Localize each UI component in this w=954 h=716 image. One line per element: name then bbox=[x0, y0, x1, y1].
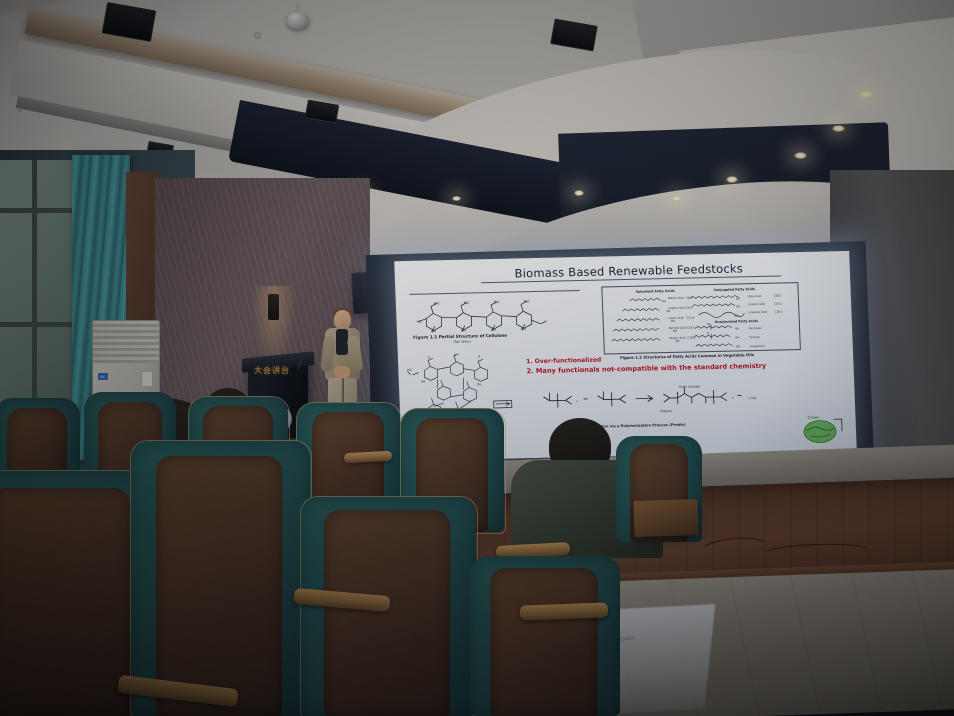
figure1-subcaption: (Ref. Wiley) bbox=[453, 340, 471, 344]
svg-text:OH: OH bbox=[421, 380, 425, 384]
svg-text:OH: OH bbox=[477, 382, 481, 386]
svg-text:Green: Green bbox=[807, 415, 820, 420]
fatty-code: C18:3 bbox=[774, 309, 782, 313]
fatty-code: C6:0 bbox=[686, 305, 692, 309]
security-camera-icon bbox=[287, 12, 309, 29]
fatty-name: Vernolic bbox=[749, 335, 760, 339]
window-mullion bbox=[0, 322, 78, 327]
fatty-name: Ricinoleic bbox=[749, 326, 762, 330]
fatty-code: C18:1 bbox=[774, 293, 782, 297]
svg-text:H₂C: H₂C bbox=[494, 300, 501, 304]
fatty-name: Stearic Acid bbox=[669, 336, 685, 340]
svg-text:O: O bbox=[707, 331, 709, 335]
svg-text:O: O bbox=[478, 354, 481, 358]
svg-text:+: + bbox=[576, 399, 579, 403]
ac-label: AC bbox=[98, 373, 108, 380]
fatty-code: C4:0 bbox=[686, 295, 692, 299]
svg-text:H₂C: H₂C bbox=[434, 301, 441, 305]
wall-sconce-icon bbox=[268, 294, 279, 320]
ceiling-downlight bbox=[858, 90, 874, 99]
green-chemistry-logo-icon: Green bbox=[799, 411, 846, 446]
sprinkler-icon bbox=[18, 108, 22, 112]
fatty-code: C12:0 bbox=[686, 315, 694, 319]
svg-text:Polymer: Polymer bbox=[660, 409, 673, 413]
presenter-hands bbox=[334, 366, 350, 378]
svg-text:HO: HO bbox=[416, 320, 422, 324]
svg-text:OH: OH bbox=[736, 344, 740, 348]
fatty-name: Linoleic Acid bbox=[748, 302, 765, 306]
fatty-name: Lesquerolic bbox=[750, 344, 765, 348]
svg-text:H₂C: H₂C bbox=[464, 301, 471, 305]
fatty-name: Palmitic Acid bbox=[669, 326, 686, 330]
svg-text:OH: OH bbox=[736, 296, 740, 300]
ceiling-downlight bbox=[672, 196, 681, 201]
fatty-name: Caproic Acid bbox=[668, 306, 685, 310]
polymerization-reaction-scheme: + + n H₂O Ester Linkage Polymer bbox=[535, 377, 787, 423]
lecture-hall-photo: AC Biomass Based Renewable Feedstocks bbox=[0, 0, 954, 716]
cellulose-structure-diagram: H₂CH₂C H₂CH₂C HO OHOH OHOH bbox=[414, 295, 575, 333]
ac-vent-grille bbox=[93, 321, 159, 363]
seat-piping bbox=[130, 440, 312, 716]
svg-text:O: O bbox=[428, 355, 431, 359]
svg-text:OH: OH bbox=[734, 313, 738, 317]
seat-cushion-panel bbox=[490, 568, 598, 716]
svg-text:OH: OH bbox=[735, 335, 739, 339]
svg-text:OH: OH bbox=[461, 329, 467, 333]
reflection-corner-text: Chem bbox=[620, 634, 635, 641]
ceiling-downlight bbox=[832, 125, 845, 132]
presenter-head bbox=[334, 310, 351, 330]
svg-text:n H₂O: n H₂O bbox=[748, 396, 757, 400]
ceiling-downlight bbox=[452, 196, 461, 201]
svg-text:HO: HO bbox=[407, 368, 412, 372]
fatty-code: C18:0 bbox=[687, 335, 695, 339]
presenter-shirt bbox=[336, 329, 348, 355]
ceiling-downlight bbox=[726, 176, 738, 183]
auditorium-seat-foreground[interactable] bbox=[470, 556, 620, 716]
ceiling-downlight bbox=[794, 152, 807, 159]
svg-text:OH: OH bbox=[707, 322, 711, 326]
ceiling-downlight bbox=[574, 190, 584, 196]
svg-text:OH: OH bbox=[736, 304, 740, 308]
podium-nameplate: 大会讲台 bbox=[254, 365, 290, 376]
seat-tablet-desk[interactable] bbox=[633, 499, 698, 537]
slide-bullet-1: 1. Over-functionalized bbox=[526, 357, 601, 366]
fatty-acid-chains-right: OHOH OHOH OHOH OHO bbox=[688, 291, 776, 351]
fatty-name: Oleic Acid bbox=[748, 294, 761, 298]
svg-text:OH: OH bbox=[491, 328, 497, 332]
ac-notice-card bbox=[141, 371, 153, 387]
svg-text:OH: OH bbox=[735, 326, 739, 330]
fatty-name: Lauric Acid bbox=[668, 316, 683, 320]
seat-armrest[interactable] bbox=[520, 602, 608, 620]
svg-text:+: + bbox=[732, 396, 735, 400]
svg-text:OH: OH bbox=[521, 327, 527, 331]
sprinkler-icon bbox=[254, 32, 261, 39]
fatty-code: C16:0 bbox=[687, 325, 695, 329]
fatty-name: Butyric Acid bbox=[668, 296, 684, 300]
fatty-acid-chains-left: OHOH OHOH OH bbox=[608, 293, 696, 349]
slide-divider bbox=[409, 290, 579, 295]
svg-text:Ester Linkage: Ester Linkage bbox=[679, 384, 700, 388]
fatty-code: C18:2 bbox=[774, 301, 782, 305]
svg-text:H₂C: H₂C bbox=[524, 299, 531, 303]
fatty-name: Linolenic Acid bbox=[748, 310, 767, 314]
svg-text:OH: OH bbox=[662, 299, 666, 303]
auditorium-seat-foreground[interactable] bbox=[130, 440, 310, 716]
svg-text:OH: OH bbox=[431, 329, 437, 332]
window-mullion bbox=[0, 208, 78, 213]
